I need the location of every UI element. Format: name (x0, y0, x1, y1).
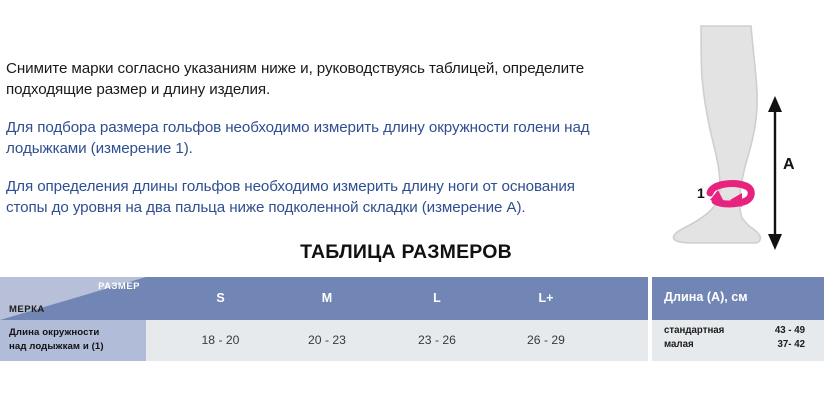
length-row-standard: стандартная 43 - 49 (664, 325, 818, 340)
length-row-standard-name: стандартная (664, 325, 724, 336)
length-marker-label: А (783, 156, 795, 174)
length-row-standard-value: 43 - 49 (775, 325, 805, 336)
instruction-paragraph-1: Снимите марки согласно указаниям ниже и,… (6, 58, 606, 100)
size-column-header-lplus: L+ (491, 277, 601, 320)
cell-value-l: 23 - 26 (382, 320, 492, 361)
size-chart-page: Снимите марки согласно указаниям ниже и,… (0, 0, 824, 412)
cell-value-m: 20 - 23 (272, 320, 382, 361)
instructions-block: Снимите марки согласно указаниям ниже и,… (6, 58, 606, 218)
leg-illustration (620, 20, 824, 270)
cell-value-lplus: 26 - 29 (491, 320, 601, 361)
length-row-small-value: 37- 42 (778, 339, 805, 350)
leg-silhouette-icon (673, 26, 760, 243)
table-corner-cell: РАЗМЕР МЕРКА (0, 277, 146, 320)
corner-size-label: РАЗМЕР (98, 281, 140, 292)
corner-measure-label: МЕРКА (9, 304, 45, 315)
length-panel-header-label: Длина (А), см (664, 290, 748, 304)
instruction-paragraph-2: Для подбора размера гольфов необходимо и… (6, 117, 606, 159)
length-row-small-name: малая (664, 339, 694, 350)
row-label-line-1: Длина окружности (9, 326, 146, 340)
circumference-marker-label: 1 (697, 185, 705, 201)
length-measure-arrow-icon (768, 96, 782, 250)
row-label-line-2: над лодыжкам и (1) (9, 340, 146, 354)
length-panel-body: стандартная 43 - 49 малая 37- 42 (652, 320, 824, 361)
instruction-paragraph-3: Для определения длины гольфов необходимо… (6, 176, 606, 218)
size-table: РАЗМЕР МЕРКА S M L L+ Длина окружности н… (0, 277, 648, 361)
size-table-header-row: РАЗМЕР МЕРКА S M L L+ (0, 277, 648, 320)
row-label-cell: Длина окружности над лодыжкам и (1) (0, 320, 146, 361)
size-column-header-m: M (272, 277, 382, 320)
size-column-header-l: L (382, 277, 492, 320)
length-row-small: малая 37- 42 (664, 339, 818, 354)
table-row: Длина окружности над лодыжкам и (1) 18 -… (0, 320, 648, 361)
length-panel-header: Длина (А), см (652, 277, 824, 320)
length-panel: Длина (А), см стандартная 43 - 49 малая … (652, 277, 824, 361)
